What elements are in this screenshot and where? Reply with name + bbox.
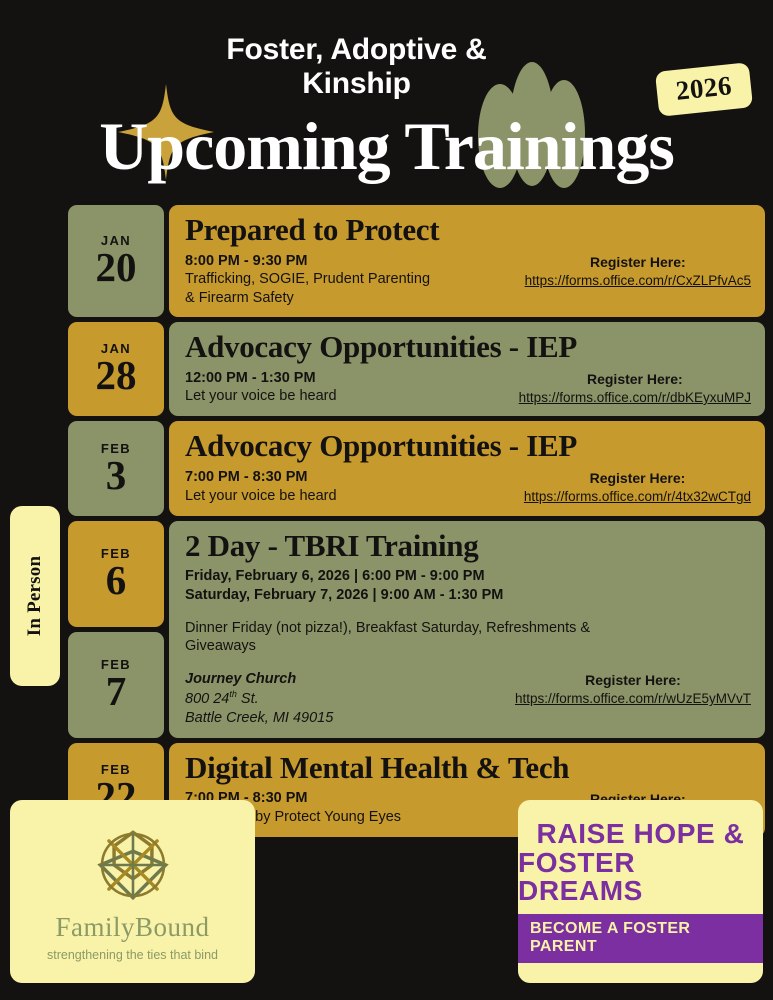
training-title: Digital Mental Health & Tech (185, 752, 751, 785)
venue-street-number: 800 24 (185, 691, 229, 707)
training-body: Prepared to Protect 8:00 PM - 9:30 PM Tr… (169, 205, 765, 317)
date-day: 7 (106, 670, 127, 713)
familybound-tagline: strengthening the ties that bind (47, 948, 218, 962)
page-title: Upcoming Trainings (0, 112, 773, 180)
training-schedule: In Person JAN 20 Prepared to Protect 8:0… (0, 205, 773, 837)
familybound-name: FamilyBound (55, 914, 209, 941)
venue-street-rest: St. (237, 691, 259, 707)
training-row[interactable]: FEB 3 Advocacy Opportunities - IEP 7:00 … (68, 421, 765, 515)
kicker-line-2: Kinship (0, 67, 713, 101)
training-body: 2 Day - TBRI Training Friday, February 6… (169, 521, 765, 738)
training-time: 12:00 PM - 1:30 PM (185, 369, 337, 388)
date-box: FEB 6 (68, 521, 164, 627)
training-meals: Dinner Friday (not pizza!), Breakfast Sa… (185, 619, 751, 657)
register-label: Register Here: (515, 671, 751, 689)
register-block[interactable]: Register Here: https://forms.office.com/… (524, 468, 751, 506)
training-details: 7:00 PM - 8:30 PM Let your voice be hear… (185, 468, 337, 505)
register-label: Register Here: (525, 253, 751, 271)
register-link[interactable]: https://forms.office.com/r/CxZLPfvAc5 (525, 272, 751, 290)
year-badge: 2026 (655, 62, 753, 117)
venue-name: Journey Church (185, 670, 333, 689)
training-title: Advocacy Opportunities - IEP (185, 430, 751, 463)
raise-hope-card: RAISE HOPE & FOSTER DREAMS BECOME A FOST… (518, 800, 763, 983)
poster-header: Foster, Adoptive & Kinship Upcoming Trai… (0, 0, 773, 205)
kicker-line-1: Foster, Adoptive & (226, 33, 486, 66)
training-desc-1: Trafficking, SOGIE, Prudent Parenting (185, 270, 430, 289)
training-title: Advocacy Opportunities - IEP (185, 331, 751, 364)
training-desc-1: Let your voice be heard (185, 487, 337, 506)
multiday-date-stack: FEB 6 FEB 7 (68, 521, 164, 738)
poster-footer: FamilyBound strengthening the ties that … (0, 800, 773, 1000)
venue-street: 800 24th St. (185, 689, 333, 709)
training-body: Advocacy Opportunities - IEP 12:00 PM - … (169, 322, 765, 416)
date-box: JAN 28 (68, 322, 164, 416)
register-block[interactable]: Register Here: https://forms.office.com/… (515, 670, 751, 708)
training-sessions: Friday, February 6, 2026 | 6:00 PM - 9:0… (185, 567, 751, 605)
register-block[interactable]: Register Here: https://forms.office.com/… (519, 369, 751, 407)
register-label: Register Here: (519, 370, 751, 388)
raise-hope-line-1: RAISE HOPE & (537, 820, 745, 849)
in-person-badge: In Person (10, 506, 60, 686)
training-row-multiday[interactable]: FEB 6 FEB 7 2 Day - TBRI Training Friday… (68, 521, 765, 738)
training-time: 7:00 PM - 8:30 PM (185, 468, 337, 487)
date-box: FEB 3 (68, 421, 164, 515)
celtic-knot-icon (90, 822, 176, 908)
meals-line-2: Giveaways (185, 637, 751, 656)
date-day: 20 (96, 246, 137, 289)
become-foster-parent-cta[interactable]: BECOME A FOSTER PARENT (518, 914, 763, 963)
date-day: 3 (106, 454, 127, 497)
raise-hope-line-2: FOSTER DREAMS (518, 849, 763, 906)
date-box: JAN 20 (68, 205, 164, 317)
meals-line-1: Dinner Friday (not pizza!), Breakfast Sa… (185, 619, 751, 638)
register-link[interactable]: https://forms.office.com/r/dbKEyxuMPJ (519, 389, 751, 407)
session-line-1: Friday, February 6, 2026 | 6:00 PM - 9:0… (185, 567, 751, 586)
date-box: FEB 7 (68, 632, 164, 738)
venue-city: Battle Creek, MI 49015 (185, 709, 333, 728)
training-details: 8:00 PM - 9:30 PM Trafficking, SOGIE, Pr… (185, 252, 430, 308)
training-time: 8:00 PM - 9:30 PM (185, 252, 430, 271)
register-label: Register Here: (524, 469, 751, 487)
training-title: Prepared to Protect (185, 214, 751, 247)
in-person-label: In Person (24, 556, 46, 636)
training-venue: Journey Church 800 24th St. Battle Creek… (185, 670, 333, 727)
familybound-logo-card: FamilyBound strengthening the ties that … (10, 800, 255, 983)
register-link[interactable]: https://forms.office.com/r/wUzE5yMVvT (515, 690, 751, 708)
venue-street-suffix: th (229, 689, 237, 699)
training-details: 12:00 PM - 1:30 PM Let your voice be hea… (185, 369, 337, 406)
training-row[interactable]: JAN 20 Prepared to Protect 8:00 PM - 9:3… (68, 205, 765, 317)
date-day: 6 (106, 559, 127, 602)
session-line-2: Saturday, February 7, 2026 | 9:00 AM - 1… (185, 586, 751, 605)
training-body: Advocacy Opportunities - IEP 7:00 PM - 8… (169, 421, 765, 515)
training-title: 2 Day - TBRI Training (185, 530, 751, 563)
register-block[interactable]: Register Here: https://forms.office.com/… (525, 252, 751, 290)
training-row[interactable]: JAN 28 Advocacy Opportunities - IEP 12:0… (68, 322, 765, 416)
date-day: 28 (96, 354, 137, 397)
training-desc-2: & Firearm Safety (185, 289, 430, 308)
register-link[interactable]: https://forms.office.com/r/4tx32wCTgd (524, 488, 751, 506)
training-desc-1: Let your voice be heard (185, 387, 337, 406)
